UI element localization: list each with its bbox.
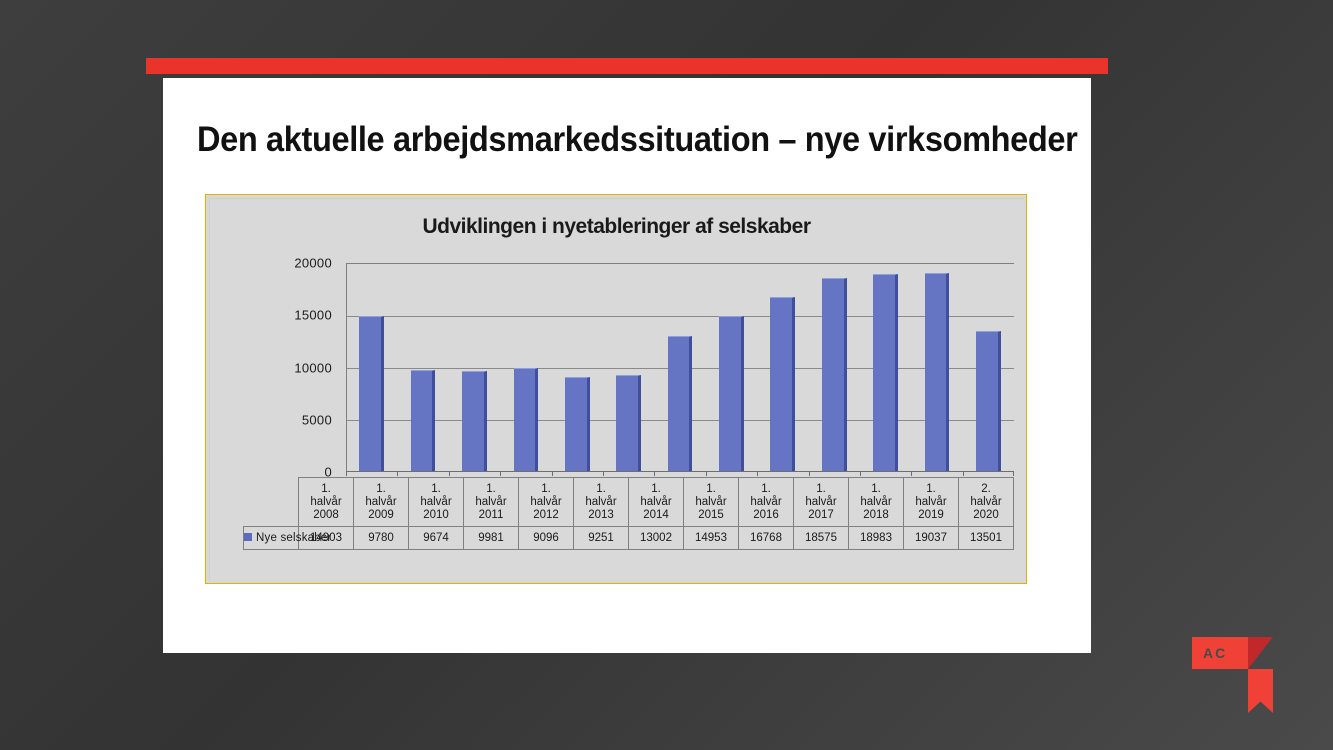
table-cell-value: 9674	[409, 527, 464, 550]
table-cell-category: 1.halvår2012	[519, 478, 574, 527]
x-axis-tick	[603, 472, 604, 476]
table-cell-category: 1.halvår2016	[739, 478, 794, 527]
x-axis-tick	[449, 472, 450, 476]
bar[interactable]	[668, 336, 693, 472]
table-cell-category: 1.halvår2017	[794, 478, 849, 527]
logo-fold-icon	[1248, 637, 1273, 669]
table-cell-value: 19037	[904, 527, 959, 550]
bar-slot	[346, 263, 397, 472]
bar-slot	[809, 263, 860, 472]
table-cell-category: 1.halvår2009	[354, 478, 409, 527]
accent-bar	[146, 58, 1108, 74]
chart-data-table: 1.halvår20081.halvår20091.halvår20101.ha…	[243, 477, 1014, 550]
legend-entry: Nye selskaber	[244, 527, 299, 550]
x-axis-line	[346, 471, 1014, 472]
y-axis-tick-label: 20000	[294, 256, 332, 271]
chart-title: Udviklingen i nyetableringer af selskabe…	[210, 215, 1023, 239]
table-cell-value: 18983	[849, 527, 904, 550]
table-cell-category: 1.halvår2013	[574, 478, 629, 527]
bar[interactable]	[976, 331, 1001, 472]
table-row-values: Nye selskaber 14903978096749981909692511…	[244, 527, 1014, 550]
bar-slot	[860, 263, 911, 472]
table-cell-value: 14953	[684, 527, 739, 550]
bar-slot	[963, 263, 1014, 472]
table-cell-value: 9251	[574, 527, 629, 550]
bar-slot	[500, 263, 551, 472]
table-cell-value: 9780	[354, 527, 409, 550]
logo-text: AC	[1203, 645, 1227, 661]
table-cell-category: 1.halvår2010	[409, 478, 464, 527]
y-axis-labels: 05000100001500020000	[210, 263, 340, 472]
y-axis-tick-label: 15000	[294, 308, 332, 323]
bar[interactable]	[616, 375, 641, 472]
bar-slot	[449, 263, 500, 472]
legend-swatch-icon	[244, 533, 252, 541]
x-axis-tick	[860, 472, 861, 476]
chart-object[interactable]: Udviklingen i nyetableringer af selskabe…	[205, 194, 1027, 584]
x-axis-tick	[1013, 472, 1014, 476]
bar-slot	[397, 263, 448, 472]
bar[interactable]	[873, 274, 898, 472]
bar[interactable]	[411, 370, 436, 472]
bar-slot	[654, 263, 705, 472]
x-axis-tick	[706, 472, 707, 476]
table-cell-value: 13002	[629, 527, 684, 550]
legend-spacer-cell	[244, 478, 299, 527]
table-cell-category: 1.halvår2008	[299, 478, 354, 527]
x-axis-tick	[911, 472, 912, 476]
x-axis-tick	[963, 472, 964, 476]
x-axis-tick	[757, 472, 758, 476]
ac-logo: AC	[1192, 637, 1280, 713]
table-cell-category: 2.halvår2020	[959, 478, 1014, 527]
bar-series	[346, 263, 1014, 472]
x-axis-tick	[809, 472, 810, 476]
table-cell-category: 1.halvår2019	[904, 478, 959, 527]
table-cell-value: 16768	[739, 527, 794, 550]
bar[interactable]	[719, 316, 744, 472]
bar[interactable]	[359, 316, 384, 472]
x-axis-tick	[500, 472, 501, 476]
table-cell-value: 13501	[959, 527, 1014, 550]
bar[interactable]	[822, 278, 847, 472]
table-row-categories: 1.halvår20081.halvår20091.halvår20101.ha…	[244, 478, 1014, 527]
bar-slot	[757, 263, 808, 472]
bar[interactable]	[925, 273, 950, 472]
plot-area-wrapper	[346, 263, 1014, 472]
bar[interactable]	[514, 368, 539, 472]
logo-ribbon-shape	[1248, 669, 1273, 713]
page-title: Den aktuelle arbejdsmarkedssituation – n…	[197, 120, 997, 160]
table-cell-category: 1.halvår2011	[464, 478, 519, 527]
table-cell-value: 9096	[519, 527, 574, 550]
y-axis-tick-label: 5000	[302, 412, 332, 427]
bar-slot	[552, 263, 603, 472]
bar[interactable]	[770, 297, 795, 472]
table-cell-category: 1.halvår2018	[849, 478, 904, 527]
chart-inner-surface: Udviklingen i nyetableringer af selskabe…	[209, 198, 1023, 580]
bar-slot	[603, 263, 654, 472]
x-axis-tick	[552, 472, 553, 476]
table-cell-value: 18575	[794, 527, 849, 550]
table-cell-value: 9981	[464, 527, 519, 550]
bar[interactable]	[462, 371, 487, 472]
bar-slot	[706, 263, 757, 472]
bar[interactable]	[565, 377, 590, 472]
x-axis-tick	[397, 472, 398, 476]
y-axis-tick-label: 10000	[294, 360, 332, 375]
bar-slot	[911, 263, 962, 472]
x-axis-tick	[654, 472, 655, 476]
table-cell-category: 1.halvår2014	[629, 478, 684, 527]
table-cell-category: 1.halvår2015	[684, 478, 739, 527]
slide-canvas: Den aktuelle arbejdsmarkedssituation – n…	[163, 78, 1091, 653]
x-axis-tick	[346, 472, 347, 476]
